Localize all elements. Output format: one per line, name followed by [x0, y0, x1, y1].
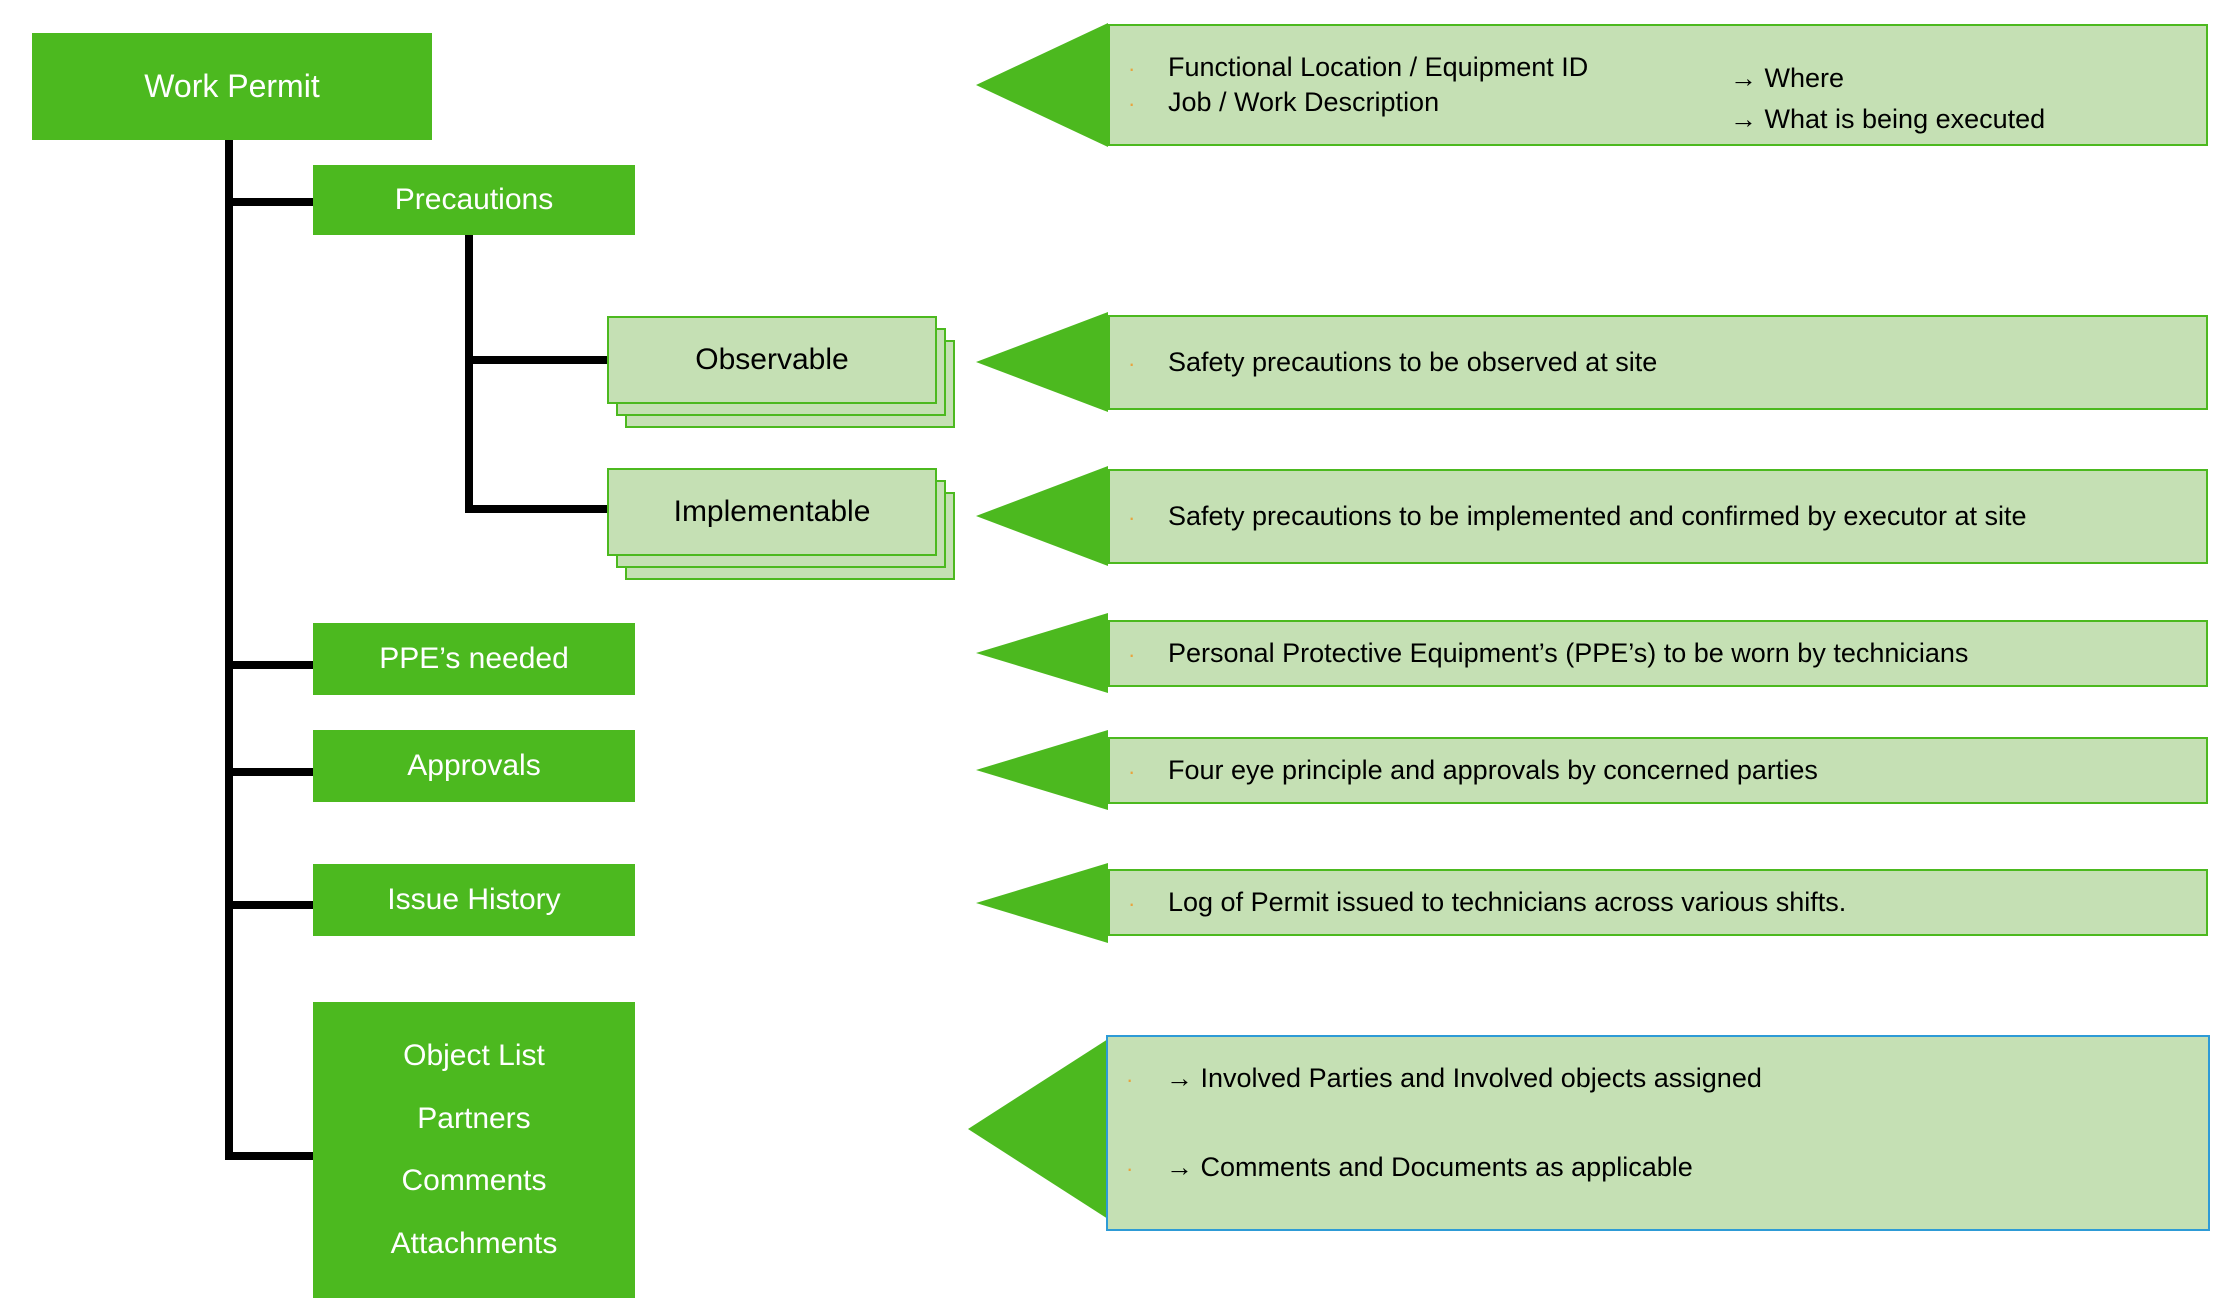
node-implementable-label: Implementable: [674, 495, 871, 529]
node-observable-stack[interactable]: Observable: [607, 316, 955, 428]
bullet-icon: ·: [1110, 350, 1168, 379]
callout-root-row-2-right: → What is being executed: [1730, 104, 2045, 135]
arrow-ppe-callout-icon: [976, 613, 1108, 693]
callout-observable: · Safety precautions to be observed at s…: [1108, 315, 2208, 410]
connector-to-approvals: [225, 768, 315, 776]
connector-to-ppe: [225, 661, 315, 669]
callout-issue-history-row-1-text: Log of Permit issued to technicians acro…: [1168, 885, 2206, 920]
bullet-icon: ·: [1110, 758, 1168, 787]
node-precautions[interactable]: Precautions: [313, 165, 635, 235]
node-implementable-card-front[interactable]: Implementable: [607, 468, 937, 556]
bullet-icon: ·: [1110, 890, 1168, 919]
arrow-implementable-callout-icon: [976, 466, 1108, 566]
callout-approvals-row-1: · Four eye principle and approvals by co…: [1110, 753, 2206, 788]
callout-implementable-row-1-text: Safety precautions to be implemented and…: [1168, 499, 2206, 534]
node-ppe-needed[interactable]: PPE’s needed: [313, 623, 635, 695]
node-attachments-label: Attachments: [391, 1224, 558, 1265]
connector-to-object-group: [225, 1152, 315, 1160]
bullet-icon: ·: [1108, 1155, 1166, 1184]
callout-implementable: · Safety precautions to be implemented a…: [1108, 469, 2208, 564]
arrow-object-group-callout-icon: [968, 1039, 1108, 1219]
callout-root-row-1-text: Functional Location / Equipment ID: [1168, 50, 2206, 85]
callout-object-group: · → Involved Parties and Involved object…: [1106, 1035, 2210, 1231]
connector-trunk-precautions: [465, 234, 473, 512]
callout-issue-history-row-1: · Log of Permit issued to technicians ac…: [1110, 885, 2206, 920]
node-issue-history[interactable]: Issue History: [313, 864, 635, 936]
callout-ppe-row-1: · Personal Protective Equipment’s (PPE’s…: [1110, 636, 2206, 671]
node-work-permit[interactable]: Work Permit: [32, 33, 432, 140]
node-implementable-stack[interactable]: Implementable: [607, 468, 955, 580]
callout-root: · Functional Location / Equipment ID · J…: [1108, 24, 2208, 146]
bullet-icon: ·: [1108, 1066, 1166, 1095]
callout-object-group-row-1: · → Involved Parties and Involved object…: [1108, 1061, 2208, 1096]
bullet-icon: ·: [1110, 90, 1168, 119]
node-observable-label: Observable: [695, 343, 848, 377]
node-work-permit-label: Work Permit: [144, 65, 319, 108]
callout-ppe: · Personal Protective Equipment’s (PPE’s…: [1108, 620, 2208, 687]
callout-object-group-row-2: · → Comments and Documents as applicable: [1108, 1150, 2208, 1185]
node-precautions-label: Precautions: [395, 180, 553, 221]
arrow-observable-callout-icon: [976, 312, 1108, 412]
arrow-issue-history-callout-icon: [976, 863, 1108, 943]
callout-approvals-row-1-text: Four eye principle and approvals by conc…: [1168, 753, 2206, 788]
node-observable-card-front[interactable]: Observable: [607, 316, 937, 404]
connector-to-implementable: [465, 505, 607, 513]
connector-to-observable: [465, 356, 607, 364]
node-ppe-needed-label: PPE’s needed: [379, 639, 569, 680]
connector-trunk-main: [225, 140, 233, 1160]
callout-root-row-1: · Functional Location / Equipment ID: [1110, 50, 2206, 85]
connector-to-issue-history: [225, 901, 315, 909]
node-object-group[interactable]: Object List Partners Comments Attachment…: [313, 1002, 635, 1298]
callout-issue-history: · Log of Permit issued to technicians ac…: [1108, 869, 2208, 936]
node-issue-history-label: Issue History: [387, 880, 560, 921]
callout-implementable-row-1: · Safety precautions to be implemented a…: [1110, 499, 2206, 534]
callout-object-group-row-1-text: → Involved Parties and Involved objects …: [1166, 1061, 2208, 1096]
callout-observable-row-1: · Safety precautions to be observed at s…: [1110, 345, 2206, 380]
arrow-root-callout-icon: [976, 23, 1108, 147]
node-approvals-label: Approvals: [407, 746, 540, 787]
arrow-approvals-callout-icon: [976, 730, 1108, 810]
callout-observable-row-1-text: Safety precautions to be observed at sit…: [1168, 345, 2206, 380]
callout-ppe-row-1-text: Personal Protective Equipment’s (PPE’s) …: [1168, 636, 2206, 671]
node-object-list-label: Object List: [403, 1036, 545, 1077]
callout-approvals: · Four eye principle and approvals by co…: [1108, 737, 2208, 804]
callout-root-row-1-right: → Where: [1730, 63, 1844, 94]
connector-to-precautions: [225, 198, 315, 206]
bullet-icon: ·: [1110, 504, 1168, 533]
bullet-icon: ·: [1110, 641, 1168, 670]
bullet-icon: ·: [1110, 55, 1168, 84]
node-comments-label: Comments: [401, 1161, 546, 1202]
callout-object-group-row-2-text: → Comments and Documents as applicable: [1166, 1150, 2208, 1185]
diagram-canvas: Work Permit Precautions Observable Imple…: [0, 0, 2225, 1307]
callout-root-row-2-text: Job / Work Description: [1168, 85, 2206, 120]
node-partners-label: Partners: [417, 1099, 530, 1140]
node-approvals[interactable]: Approvals: [313, 730, 635, 802]
